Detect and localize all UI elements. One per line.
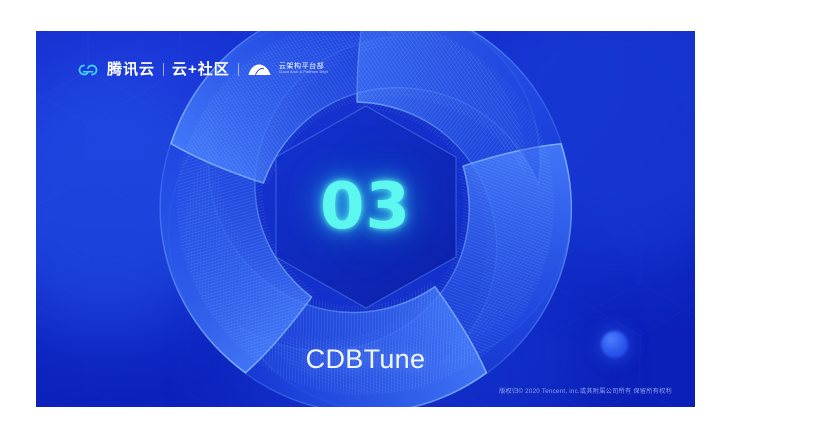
community-label: 云+社区: [172, 62, 230, 77]
hexagon-plate: [272, 104, 460, 310]
branding-divider-2: [238, 63, 239, 76]
partner-text: 云架构平台部 Cloud Arch & Platform Dept: [279, 63, 328, 74]
tencent-cloud-logo-icon: [77, 61, 99, 77]
section-number-text: 03: [320, 175, 411, 239]
glow-blob-left: [36, 71, 236, 331]
partner-name-en: Cloud Arch & Platform Dept: [279, 71, 328, 74]
section-number: 03: [320, 175, 411, 239]
partner-logo: 云架构平台部 Cloud Arch & Platform Dept: [247, 62, 328, 77]
tencent-cloud-label: 腾讯云: [107, 62, 155, 77]
screenshot-canvas: 03 CDBTune 腾讯云 云+社区: [0, 0, 821, 429]
presentation-slide: 03 CDBTune 腾讯云 云+社区: [36, 31, 695, 407]
glow-blob-bottom: [236, 217, 576, 407]
glow-blob-topright: [465, 31, 695, 271]
branding-bar: 腾讯云 云+社区 云架构平台部 Cloud Arch & Platform De…: [77, 57, 328, 81]
slide-title: CDBTune: [36, 344, 695, 375]
copyright-text: 版权归© 2020 Tencent, inc.或其附属公司所有 保留所有权利: [499, 386, 672, 395]
partner-name-cn: 云架构平台部: [279, 63, 328, 70]
cloud-mountain-icon: [247, 62, 274, 77]
branding-divider-1: [163, 63, 164, 76]
